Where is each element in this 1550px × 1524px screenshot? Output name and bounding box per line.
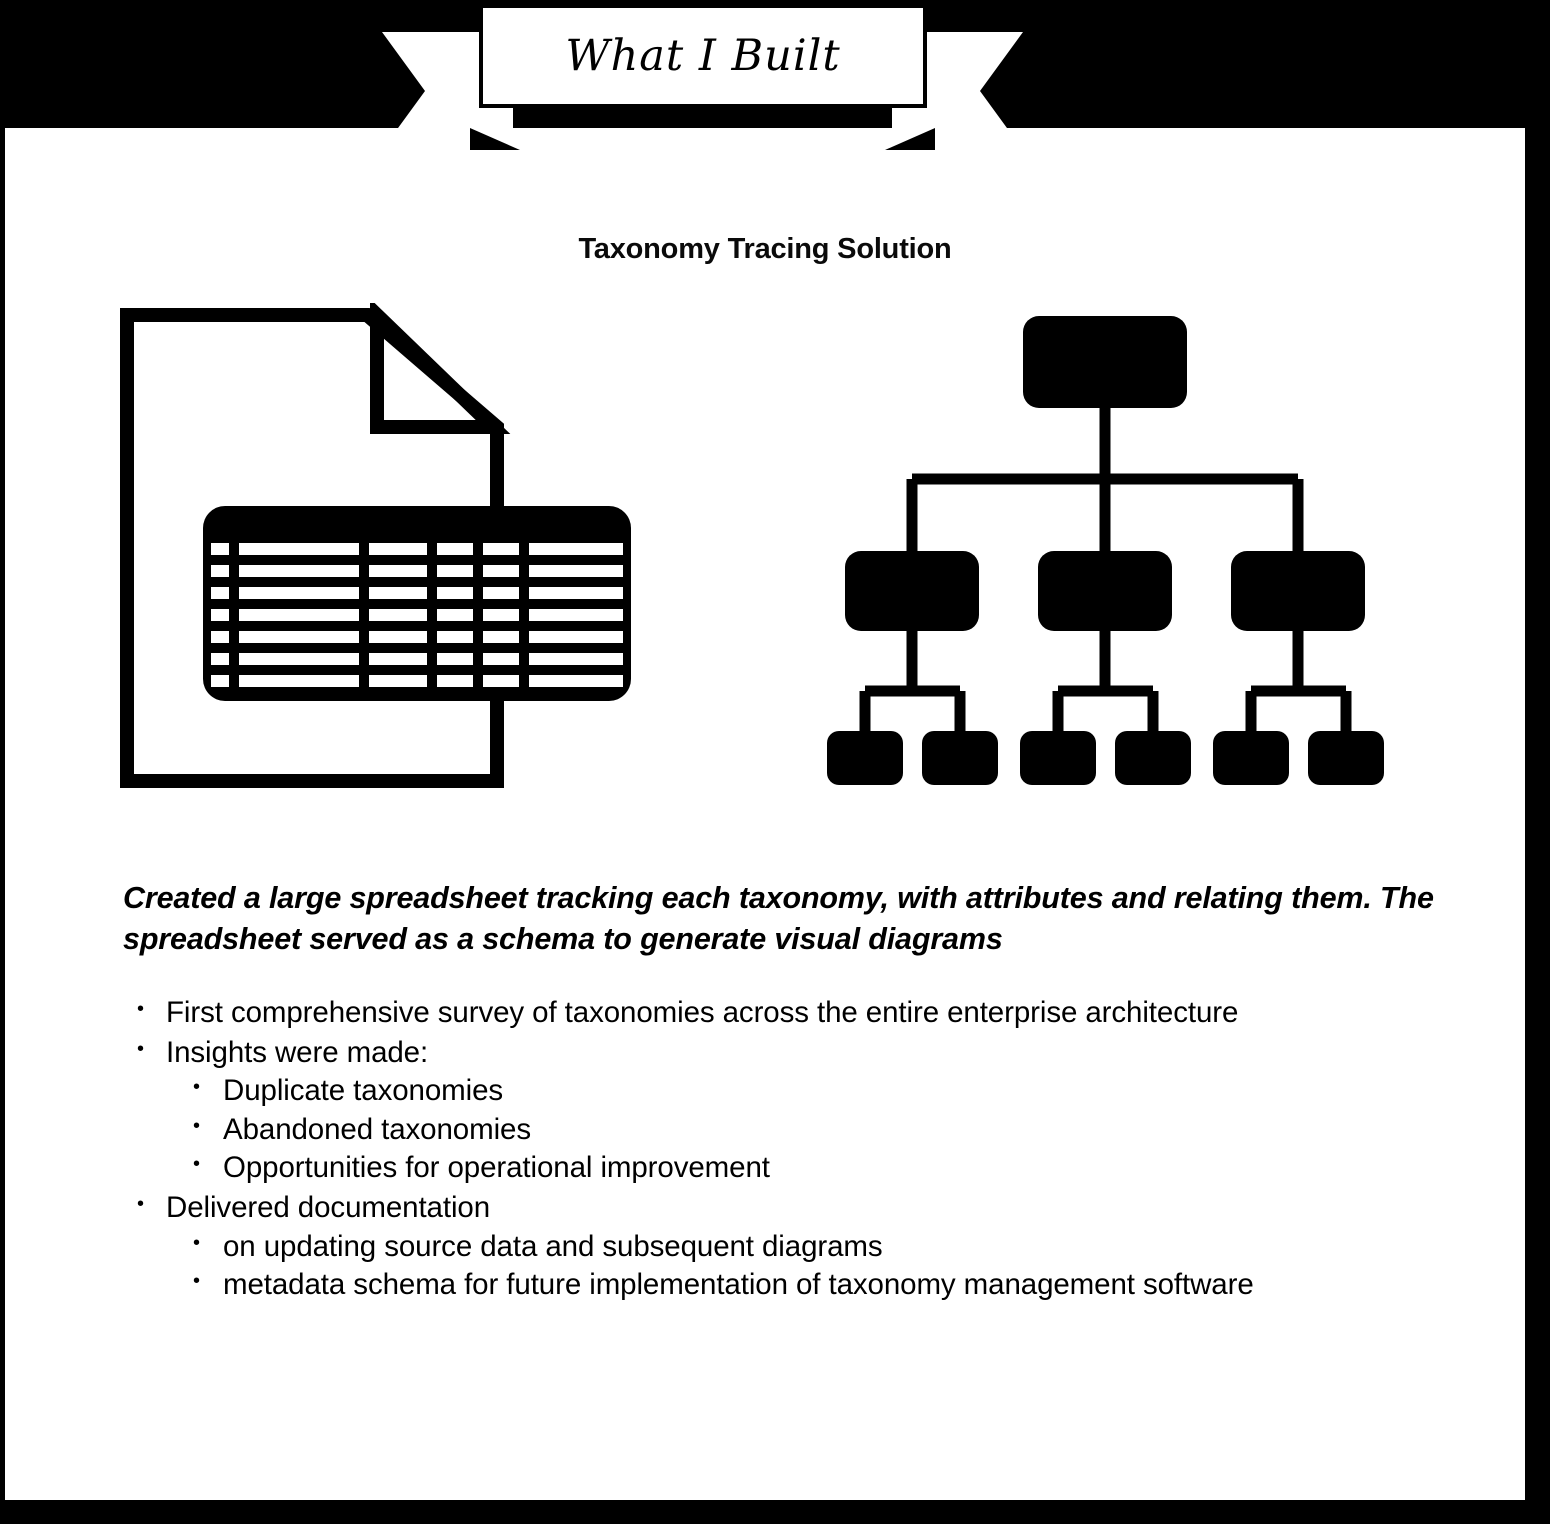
sub-bullet-list: on updating source data and subsequent d…	[166, 1228, 1443, 1305]
spreadsheet-document-icon	[115, 303, 645, 798]
body-copy: Created a large spreadsheet tracking eac…	[123, 878, 1443, 1306]
section-title: Taxonomy Tracing Solution	[5, 233, 1525, 266]
hierarchy-node-mid-3	[1231, 551, 1365, 631]
bullet-text: Delivered documentation	[166, 1189, 1443, 1227]
table-body	[203, 506, 631, 701]
hierarchy-node-leaf-5	[1213, 731, 1289, 785]
hierarchy-node-leaf-3	[1020, 731, 1096, 785]
hierarchy-node-leaf-1	[827, 731, 903, 785]
document-fold-corner	[377, 315, 493, 427]
sub-bullet-item: Opportunities for operational improvemen…	[166, 1149, 1443, 1187]
bullet-item: Insights were made: Duplicate taxonomies…	[123, 1034, 1443, 1187]
sub-bullet-item: metadata schema for future implementatio…	[166, 1266, 1443, 1304]
sub-bullet-list: Duplicate taxonomies Abandoned taxonomie…	[166, 1072, 1443, 1187]
bullet-text: Insights were made:	[166, 1034, 1443, 1072]
hierarchy-node-leaf-6	[1308, 731, 1384, 785]
bullet-item: First comprehensive survey of taxonomies…	[123, 994, 1443, 1032]
hierarchy-node-leaf-4	[1115, 731, 1191, 785]
sub-bullet-item: Duplicate taxonomies	[166, 1072, 1443, 1110]
hierarchy-node-mid-1	[845, 551, 979, 631]
sub-bullet-item: Abandoned taxonomies	[166, 1111, 1443, 1149]
sub-bullet-item: on updating source data and subsequent d…	[166, 1228, 1443, 1266]
hierarchy-tree-icon	[815, 303, 1395, 798]
bullet-text: First comprehensive survey of taxonomies…	[166, 994, 1443, 1032]
banner-title: What I Built	[483, 8, 923, 104]
bullet-item: Delivered documentation on updating sour…	[123, 1189, 1443, 1304]
slide-root: What I Built Taxonomy Tracing Solution	[0, 0, 1550, 1524]
hierarchy-node-leaf-2	[922, 731, 998, 785]
hierarchy-node-root	[1023, 316, 1187, 408]
icons-row	[5, 303, 1525, 813]
content-area: Taxonomy Tracing Solution	[5, 128, 1525, 1500]
intro-paragraph: Created a large spreadsheet tracking eac…	[123, 878, 1443, 960]
bullet-list: First comprehensive survey of taxonomies…	[123, 994, 1443, 1305]
hierarchy-node-mid-2	[1038, 551, 1172, 631]
